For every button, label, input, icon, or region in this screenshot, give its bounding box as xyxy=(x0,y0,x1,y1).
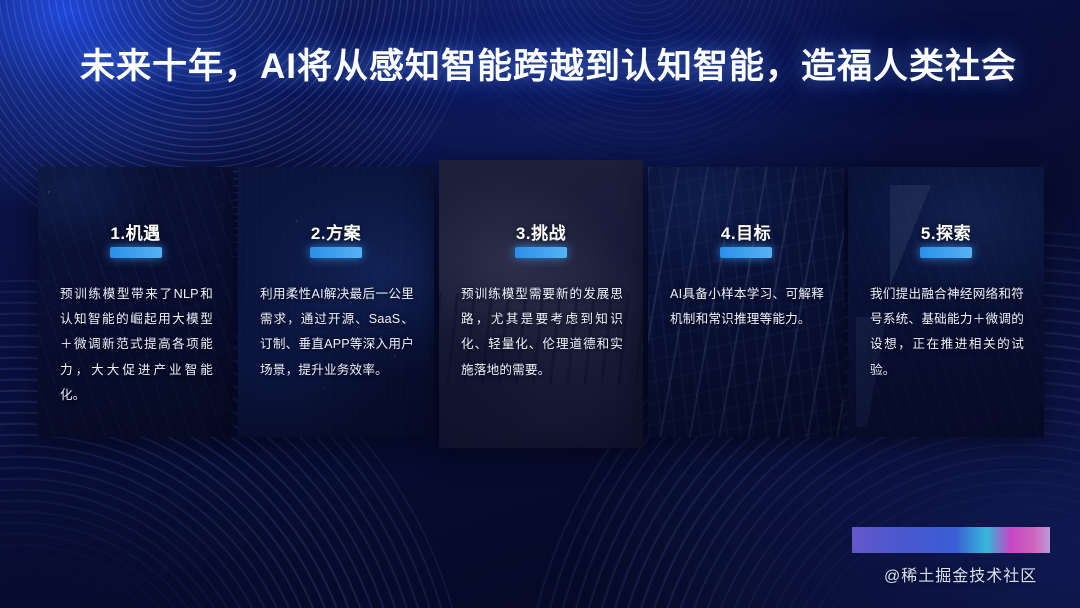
card-4-heading: 4.目标 xyxy=(648,219,844,244)
card-3-challenge[interactable]: 3.挑战 预训练模型需要新的发展思路，尤其是要考虑到知识化、轻量化、伦理道德和实… xyxy=(439,160,643,448)
card-5-accent-bar xyxy=(920,247,972,258)
card-2-heading: 2.方案 xyxy=(238,219,434,244)
card-row: 1.机遇 预训练模型带来了NLP和认知智能的崛起用大模型＋微调新范式提高各项能力… xyxy=(38,167,1044,457)
card-2-solution[interactable]: 2.方案 利用柔性AI解决最后一公里需求，通过开源、SaaS、订制、垂直APP等… xyxy=(238,167,434,437)
card-2-accent-bar xyxy=(310,247,362,258)
card-1-body-text: 预训练模型带来了NLP和认知智能的崛起用大模型＋微调新范式提高各项能力，大大促进… xyxy=(60,282,213,408)
card-5-exploration[interactable]: 5.探索 我们提出融合神经网络和符号系统、基础能力＋微调的设想，正在推进相关的试… xyxy=(848,167,1044,437)
card-1-accent-bar xyxy=(110,247,162,258)
card-4-goal[interactable]: 4.目标 AI具备小样本学习、可解释机制和常识推理等能力。 xyxy=(648,167,844,437)
card-5-body-text: 我们提出融合神经网络和符号系统、基础能力＋微调的设想，正在推进相关的试验。 xyxy=(870,282,1024,383)
card-4-accent-bar xyxy=(720,247,772,258)
slide-canvas: 未来十年，AI将从感知智能跨越到认知智能，造福人类社会 1.机遇 预训练模型带来… xyxy=(0,0,1080,608)
card-5-heading: 5.探索 xyxy=(848,219,1044,244)
card-2-body-text: 利用柔性AI解决最后一公里需求，通过开源、SaaS、订制、垂直APP等深入用户场… xyxy=(260,282,414,383)
card-1-opportunity[interactable]: 1.机遇 预训练模型带来了NLP和认知智能的崛起用大模型＋微调新范式提高各项能力… xyxy=(38,167,233,437)
card-3-heading: 3.挑战 xyxy=(439,219,643,244)
card-3-body-text: 预训练模型需要新的发展思路，尤其是要考虑到知识化、轻量化、伦理道德和实施落地的需… xyxy=(461,282,623,383)
card-1-heading: 1.机遇 xyxy=(38,219,233,244)
watermark-gradient-bar xyxy=(852,527,1050,553)
card-3-accent-bar xyxy=(515,247,567,258)
card-4-body-text: AI具备小样本学习、可解释机制和常识推理等能力。 xyxy=(670,282,824,332)
slide-title: 未来十年，AI将从感知智能跨越到认知智能，造福人类社会 xyxy=(80,38,1017,89)
watermark-text: @稀土掘金技术社区 xyxy=(884,562,1037,586)
